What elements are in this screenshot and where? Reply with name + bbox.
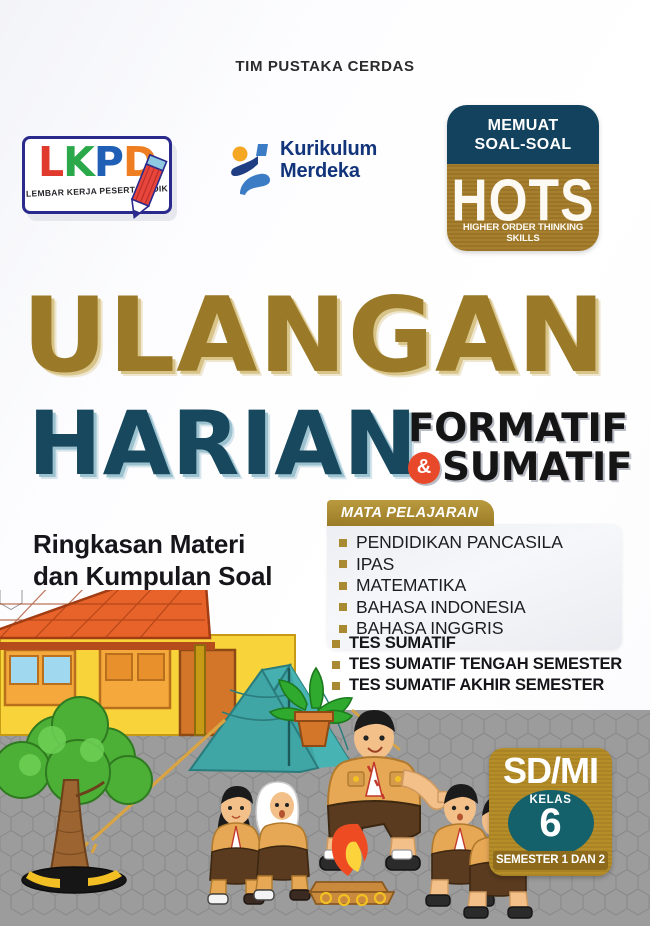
subject-panel-tab: MATA PELAJARAN [327, 500, 494, 526]
title-formatif: FORMATIF [408, 409, 628, 448]
kurikulum-merdeka-text: Kurikulum Merdeka [280, 138, 377, 182]
hots-badge-body: HOTS HIGHER ORDER THINKING SKILLS [447, 164, 599, 251]
square-bullet-icon [339, 560, 347, 568]
hots-subtitle: HIGHER ORDER THINKING SKILLS [447, 222, 599, 244]
title-ulangan: ULANGAN [22, 285, 606, 388]
author-line: TIM PUSTAKA CERDAS [0, 58, 650, 75]
square-bullet-icon [339, 582, 347, 590]
semester-bar: SEMESTER 1 DAN 2 [493, 851, 608, 870]
kurikulum-merdeka-icon [228, 142, 276, 196]
cover-subtitle-line1: Ringkasan Materi [33, 528, 272, 560]
level-badge-title: SD/MI [489, 752, 612, 790]
ampersand-badge: & [408, 452, 440, 484]
kelas-number: 6 [539, 803, 561, 843]
hots-header-line1: MEMUAT [488, 116, 559, 135]
kurikulum-merdeka-logo: Kurikulum Merdeka [228, 140, 403, 200]
hots-header-line2: SOAL-SOAL [475, 135, 572, 154]
subject-label: IPAS [356, 554, 394, 576]
hots-badge-header: MEMUAT SOAL-SOAL [447, 105, 599, 164]
cover-subtitle: Ringkasan Materi dan Kumpulan Soal [33, 528, 272, 592]
level-badge: SD/MI KELAS 6 SEMESTER 1 DAN 2 [489, 748, 612, 876]
list-item: IPAS [339, 554, 612, 576]
lkpd-letter-p: P [94, 138, 123, 186]
lkpd-letter-k: K [63, 138, 94, 186]
book-cover: TIM PUSTAKA CERDAS LKPD LEMBAR KERJA PES… [0, 0, 650, 926]
square-bullet-icon [339, 539, 347, 547]
title-sumatif-row: & SUMATIF [408, 448, 632, 487]
hots-badge: MEMUAT SOAL-SOAL HOTS HIGHER ORDER THINK… [447, 105, 599, 251]
children-group-left [208, 782, 310, 904]
lkpd-logo: LKPD LEMBAR KERJA PESERTA DIDIK [22, 136, 184, 224]
kurikulum-line2: Merdeka [280, 160, 377, 182]
lkpd-letter-l: L [38, 138, 63, 186]
list-item: PENDIDIKAN PANCASILA [339, 532, 612, 554]
title-sumatif: SUMATIF [442, 448, 632, 487]
kurikulum-line1: Kurikulum [280, 138, 377, 160]
title-harian: HARIAN [28, 400, 418, 488]
kelas-circle: KELAS 6 [508, 790, 594, 856]
subject-label: PENDIDIKAN PANCASILA [356, 532, 563, 554]
cover-subtitle-line2: dan Kumpulan Soal [33, 560, 272, 592]
